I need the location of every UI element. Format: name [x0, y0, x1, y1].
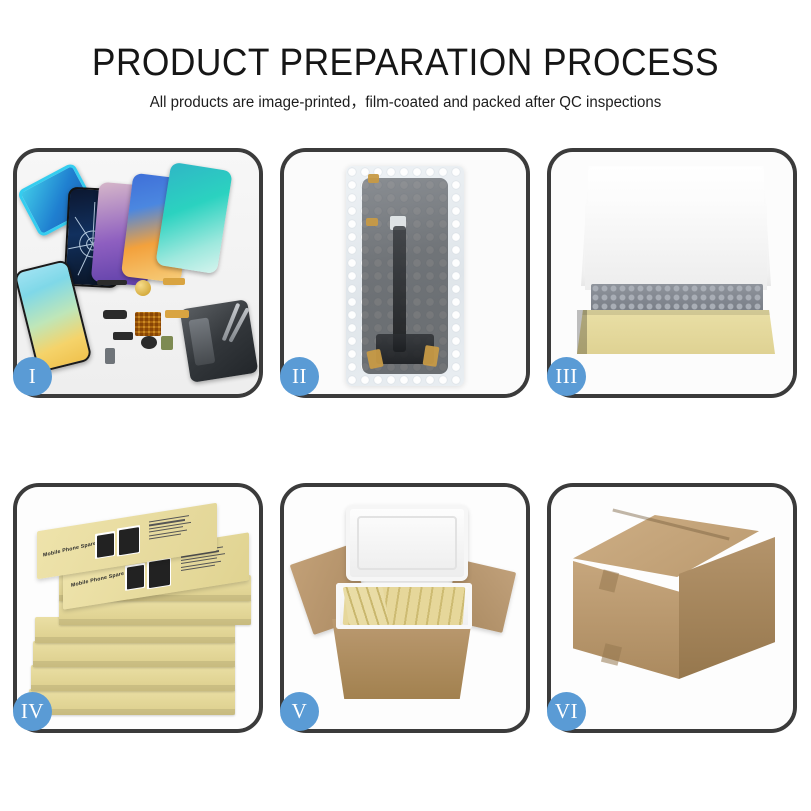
connector-part-2 — [113, 332, 133, 340]
step-badge-4: IV — [13, 692, 52, 731]
gold-tab-mid — [366, 218, 378, 226]
gold-box-base — [577, 310, 775, 354]
process-step-panel-2[interactable]: II — [280, 148, 530, 398]
connector-part-1 — [103, 310, 127, 319]
camera-module-part — [141, 336, 157, 349]
carton-front-face — [573, 561, 679, 679]
earpiece-part — [97, 280, 127, 285]
step-6-image — [551, 487, 793, 729]
step-1-image — [17, 152, 259, 394]
step-5-image — [284, 487, 526, 729]
foam-padding-sheet — [585, 204, 767, 290]
step-badge-6: VI — [547, 692, 586, 731]
process-step-panel-1[interactable]: I — [13, 148, 263, 398]
step-badge-2: II — [280, 357, 319, 396]
bubble-wrapped-contents — [591, 284, 763, 314]
gold-boxes-inside-left — [343, 587, 390, 625]
step-badge-3: III — [547, 357, 586, 396]
page-title: PRODUCT PREPARATION PROCESS — [28, 42, 782, 84]
step-3-image — [551, 152, 793, 394]
speaker-part — [105, 348, 115, 364]
header: PRODUCT PREPARATION PROCESS All products… — [0, 0, 811, 113]
process-step-panel-6[interactable]: VI — [547, 483, 797, 733]
process-step-panel-3[interactable]: III — [547, 148, 797, 398]
process-step-grid: I II — [13, 148, 798, 733]
battery-connector-part — [161, 336, 173, 350]
gold-box-stack: Mobile Phone Spare Parts Mobile Phone Sp… — [29, 513, 257, 713]
infographic-page: PRODUCT PREPARATION PROCESS All products… — [0, 0, 811, 811]
process-step-panel-4[interactable]: Mobile Phone Spare Parts Mobile Phone Sp… — [13, 483, 263, 733]
step-badge-5: V — [280, 692, 319, 731]
ic-chip-part — [135, 312, 161, 336]
flex-cable-part-2 — [165, 310, 189, 318]
step-4-image: Mobile Phone Spare Parts Mobile Phone Sp… — [17, 487, 259, 729]
flex-cable-part-1 — [163, 278, 185, 285]
step-badge-1: I — [13, 357, 52, 396]
bubble-wrap-sheet — [346, 166, 464, 386]
process-step-panel-5[interactable]: V — [280, 483, 530, 733]
carton-tape-lower — [601, 643, 622, 666]
box-side-shadow — [577, 310, 587, 354]
page-subtitle: All products are image-printed，film-coat… — [12, 93, 799, 113]
gold-coil-part — [135, 280, 151, 296]
step-2-image — [284, 152, 526, 394]
carton-body — [326, 619, 478, 699]
foam-lid-open — [346, 505, 468, 581]
gold-tab-top — [368, 174, 379, 183]
